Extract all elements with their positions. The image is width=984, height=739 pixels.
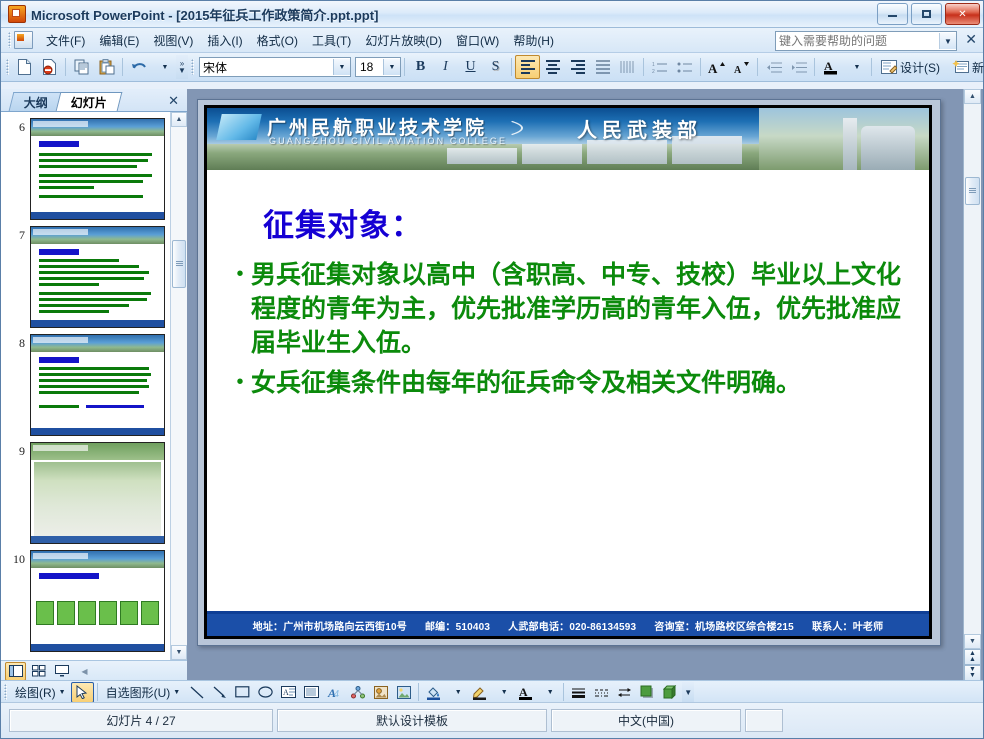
menu-item-help[interactable]: 帮助(H) [506, 29, 561, 52]
normal-view-button[interactable] [5, 662, 26, 681]
toolbar-separator [511, 58, 512, 76]
line-icon [190, 686, 204, 699]
decrease-font-size-button[interactable]: A [729, 55, 754, 79]
toolbar-separator [65, 58, 66, 76]
slide-title[interactable]: 征集对象： [263, 200, 423, 245]
italic-icon: I [443, 59, 448, 75]
slide-thumbnail[interactable] [30, 442, 165, 544]
text-direction-button[interactable] [615, 55, 640, 79]
slide-show-button[interactable] [51, 662, 72, 681]
draw-menu-button[interactable]: 绘图(R)▼ [10, 681, 71, 704]
thumb-title [39, 573, 99, 579]
thumb-banner [31, 443, 164, 460]
drawing-toolbar-grip[interactable] [4, 684, 7, 700]
footer-office: 咨询室：机场路校区综合楼215 [654, 618, 794, 633]
shadow-button[interactable]: S [483, 55, 508, 79]
menu-item-file[interactable]: 文件(F) [39, 29, 92, 52]
font-color-button[interactable]: A [818, 55, 843, 79]
new-slide-icon [952, 60, 969, 74]
slide-indicator: 幻灯片 4 / 27 [9, 709, 273, 732]
toolbar-separator [404, 58, 405, 76]
list-item[interactable]: 10 [1, 544, 171, 652]
list-item[interactable]: 8 [1, 328, 171, 436]
bullet-text: 女兵征集条件由每年的征兵命令及相关文件明确。 [251, 366, 801, 400]
font-color-button-draw[interactable]: A [514, 682, 537, 703]
tab-slides[interactable]: 幻灯片 [56, 92, 123, 111]
thumbnail-number: 9 [5, 442, 30, 459]
shadow-style-button[interactable] [636, 682, 659, 703]
bullet-marker: • [229, 258, 251, 290]
thumbnail-number: 8 [5, 334, 30, 351]
svg-text:A: A [283, 688, 289, 697]
tab-slides-label: 幻灯片 [71, 94, 107, 111]
help-search-box[interactable]: ▼ [775, 31, 957, 51]
bold-button[interactable]: B [408, 55, 433, 79]
menu-item-view[interactable]: 视图(V) [146, 29, 200, 52]
insert-picture-button[interactable] [392, 682, 415, 703]
autoshapes-label: 自选图形(U) [106, 684, 171, 701]
normal-view-icon [9, 665, 23, 677]
slide-thumbnail[interactable] [30, 226, 165, 328]
bold-icon: B [416, 59, 425, 75]
spell-check-indicator [745, 709, 783, 732]
slide-header-banner: 广州民航职业技术学院 GUANGZHOU CIVIL AVIATION COLL… [207, 108, 929, 170]
fill-color-dropdown[interactable]: ▼ [445, 682, 468, 703]
menu-item-format[interactable]: 格式(O) [250, 29, 305, 52]
title-bar: Microsoft PowerPoint - [2015年征兵工作政策简介.pp… [1, 1, 983, 28]
line-style-button[interactable] [567, 682, 590, 703]
slide-show-icon [55, 665, 69, 677]
increase-font-size-button[interactable]: A [704, 55, 729, 79]
slide-frame: 广州民航职业技术学院 GUANGZHOU CIVIL AVIATION COLL… [197, 99, 941, 646]
select-objects-button[interactable] [71, 682, 94, 703]
font-color-icon: A [518, 685, 533, 700]
tab-outline-label: 大纲 [24, 94, 48, 111]
document-icon [14, 31, 33, 49]
arrow-icon [213, 686, 227, 699]
close-document-button[interactable]: ✕ [965, 32, 977, 46]
menu-grip[interactable] [8, 32, 11, 48]
copy-button[interactable] [69, 55, 94, 79]
font-name-value: 宋体 [200, 59, 333, 76]
align-justify-button[interactable] [590, 55, 615, 79]
line-button[interactable] [185, 682, 208, 703]
footer-postcode: 邮编：510403 [425, 618, 490, 633]
new-slide-button[interactable]: 新幻灯片(N) [946, 56, 984, 79]
slide-thumbnail[interactable] [30, 334, 165, 436]
svg-text:A: A [708, 61, 718, 75]
diagram-button[interactable] [346, 682, 369, 703]
shadow-style-icon [640, 685, 655, 699]
thumb-title [39, 357, 79, 363]
chevron-down-icon[interactable]: ▼ [939, 33, 956, 49]
scroll-down-icon[interactable]: ▼ [964, 634, 981, 649]
help-search-input[interactable] [776, 32, 931, 50]
diagram-icon [351, 686, 365, 699]
thumb-title [39, 141, 79, 147]
chevron-down-icon[interactable]: ▼ [333, 59, 350, 75]
new-button[interactable] [12, 55, 37, 79]
menu-item-window[interactable]: 窗口(W) [449, 29, 506, 52]
bullet-text: 男兵征集对象以高中（含职高、中专、技校）毕业以上文化程度的青年为主，优先批准学历… [251, 258, 905, 360]
fill-color-button[interactable] [422, 682, 445, 703]
dash-style-button[interactable] [590, 682, 613, 703]
list-item[interactable]: 9 [1, 436, 171, 544]
footer-phone: 人武部电话：020-86134593 [508, 618, 636, 633]
arrow-style-icon [617, 686, 632, 699]
rectangle-button[interactable] [231, 682, 254, 703]
thumbnail-scrollbar[interactable]: ▲ ▼ [170, 112, 187, 660]
slide-thumbnail-list: 6 [1, 111, 187, 660]
footer-contact: 联系人：叶老师 [812, 618, 883, 633]
thumb-banner [31, 335, 164, 352]
slide-body-placeholder[interactable]: • 男兵征集对象以高中（含职高、中专、技校）毕业以上文化程度的青年为主，优先批准… [229, 258, 905, 406]
text-box-icon: A [281, 686, 296, 698]
font-size-value: 18 [356, 60, 383, 74]
design-label: 设计(S) [900, 59, 940, 76]
pane-tabs: 大纲 幻灯片 ✕ [1, 89, 187, 111]
slides-pane: 大纲 幻灯片 ✕ 6 [1, 89, 189, 681]
svg-text:4: 4 [334, 689, 339, 699]
toolbar-separator [97, 683, 98, 701]
oval-button[interactable] [254, 682, 277, 703]
slide-sorter-icon [32, 665, 46, 677]
thumbnail-number: 7 [5, 226, 30, 243]
align-center-icon [546, 60, 560, 74]
toolbar-separator [563, 683, 564, 701]
design-template-indicator: 默认设计模板 [277, 709, 547, 732]
department-name: 人民武装部 [577, 114, 702, 143]
toolbar-separator [418, 683, 419, 701]
thumb-footer [31, 320, 164, 327]
slide-footer: 地址：广州市机场路向云西街10号 邮编：510403 人武部电话：020-861… [207, 614, 929, 636]
align-justify-icon [596, 60, 610, 74]
insert-picture-icon [397, 686, 411, 699]
font-color-dropdown[interactable]: ▼ [843, 55, 868, 79]
scroll-left-icon[interactable]: ◀ [74, 662, 95, 681]
slide-scrollbar[interactable]: ▲ ▼ ▲▲ ▼▼ [963, 89, 981, 681]
workspace: 大纲 幻灯片 ✕ 6 [1, 89, 983, 681]
toolbar-separator [871, 58, 872, 76]
underline-button[interactable]: U [458, 55, 483, 79]
font-color-dropdown-draw[interactable]: ▼ [537, 682, 560, 703]
numbered-list-button[interactable]: 12 [647, 55, 672, 79]
banner-gate-photo [759, 108, 929, 170]
dash-style-icon [594, 686, 609, 699]
toolbar-separator [643, 58, 644, 76]
svg-text:A: A [824, 59, 833, 73]
line-style-icon [571, 686, 586, 699]
previous-slide-button[interactable]: ▲▲ [964, 649, 981, 665]
thumb-title [39, 249, 79, 255]
thumb-footer [31, 212, 164, 219]
thumbnail-number: 6 [5, 118, 30, 135]
maximize-button[interactable] [911, 3, 942, 25]
word-art-icon: A4 [327, 686, 342, 699]
college-logo-icon [216, 114, 262, 140]
promote-button[interactable] [761, 55, 786, 79]
word-art-button[interactable]: A4 [323, 682, 346, 703]
italic-button[interactable]: I [433, 55, 458, 79]
thumbnail-number: 10 [5, 550, 30, 567]
3d-style-button[interactable] [659, 682, 682, 703]
slide-thumbnail[interactable] [30, 550, 165, 652]
standard-toolbar: ▼ »▼ 宋体 ▼ 18 ▼ B I U S [1, 53, 983, 82]
undo-dropdown[interactable]: ▼ [151, 55, 176, 79]
menu-item-insert[interactable]: 插入(I) [200, 29, 249, 52]
thumb-footer [31, 536, 164, 543]
text-box-button[interactable]: A [277, 682, 300, 703]
footer-address: 地址：广州市机场路向云西街10号 [253, 618, 407, 633]
toolbar-separator [757, 58, 758, 76]
window-title: Microsoft PowerPoint - [2015年征兵工作政策简介.pp… [31, 5, 378, 24]
new-slide-label: 新幻灯片(N) [972, 59, 984, 76]
arrow-button[interactable] [208, 682, 231, 703]
scrollbar-grip [969, 188, 976, 194]
font-size-combo[interactable]: 18 ▼ [355, 57, 401, 77]
autoshapes-menu-button[interactable]: 自选图形(U)▼ [101, 681, 186, 704]
clip-art-button[interactable] [369, 682, 392, 703]
align-left-button[interactable] [515, 55, 540, 79]
clip-art-icon [374, 686, 388, 699]
arrow-style-button[interactable] [613, 682, 636, 703]
list-item[interactable]: 6 [1, 112, 171, 220]
toolbar-separator [700, 58, 701, 76]
font-name-combo[interactable]: 宋体 ▼ [199, 57, 351, 77]
oval-icon [258, 686, 273, 698]
formatting-toolbar-grip[interactable] [191, 59, 194, 75]
align-right-icon [571, 60, 585, 74]
scrollbar-grip [176, 261, 183, 267]
align-right-button[interactable] [565, 55, 590, 79]
slide-editing-area: 广州民航职业技术学院 GUANGZHOU CIVIL AVIATION COLL… [189, 89, 983, 681]
rectangle-icon [235, 686, 250, 698]
close-button[interactable]: ✕ [945, 3, 980, 25]
open-button[interactable] [37, 55, 62, 79]
toolbar-separator [814, 58, 815, 76]
scroll-down-icon[interactable]: ▼ [171, 645, 187, 660]
drawing-overflow-button[interactable]: ▼ [682, 682, 694, 702]
paste-button[interactable] [94, 55, 119, 79]
line-color-icon [472, 685, 487, 700]
align-left-icon [521, 60, 535, 74]
maximize-icon [922, 10, 931, 18]
svg-text:2: 2 [652, 69, 655, 74]
view-buttons: ◀ [1, 660, 187, 681]
minimize-icon [888, 12, 897, 17]
vertical-text-box-button[interactable] [300, 682, 323, 703]
draw-label: 绘图(R) [15, 684, 56, 701]
bullet-marker: • [229, 366, 251, 398]
minimize-button[interactable] [877, 3, 908, 25]
list-item[interactable]: 7 [1, 220, 171, 328]
menu-bar: 文件(F) 编辑(E) 视图(V) 插入(I) 格式(O) 工具(T) 幻灯片放… [1, 28, 983, 53]
list-item[interactable]: • 女兵征集条件由每年的征兵命令及相关文件明确。 [229, 366, 905, 400]
menu-item-tools[interactable]: 工具(T) [305, 29, 358, 52]
scrollbar-thumb[interactable] [965, 177, 980, 205]
powerpoint-icon [8, 5, 26, 23]
underline-icon: U [465, 59, 475, 75]
chevron-down-icon[interactable]: ▼ [383, 59, 400, 75]
status-bar: 幻灯片 4 / 27 默认设计模板 中文(中国) [1, 702, 983, 738]
3d-style-icon [663, 685, 678, 699]
close-pane-button[interactable]: ✕ [168, 93, 179, 109]
thumb-banner [31, 227, 164, 244]
thumb-banner [31, 119, 164, 136]
toolbar-grip[interactable] [6, 59, 9, 75]
thumb-footer [31, 644, 164, 651]
design-icon [881, 60, 897, 74]
text-shadow-icon: S [492, 59, 500, 75]
thumb-web-screenshot [34, 462, 161, 536]
toolbar-separator [122, 58, 123, 76]
slide-thumbnail[interactable] [30, 118, 165, 220]
svg-text:A: A [734, 65, 742, 75]
thumb-banner [31, 551, 164, 568]
scroll-up-icon[interactable]: ▲ [964, 89, 981, 104]
slide-sorter-button[interactable] [28, 662, 49, 681]
line-color-dropdown[interactable]: ▼ [491, 682, 514, 703]
current-slide[interactable]: 广州民航职业技术学院 GUANGZHOU CIVIL AVIATION COLL… [204, 105, 932, 639]
svg-text:A: A [519, 685, 528, 699]
vertical-text-box-icon [304, 686, 319, 698]
powerpoint-window: Microsoft PowerPoint - [2015年征兵工作政策简介.pp… [0, 0, 984, 739]
undo-button[interactable] [126, 55, 151, 79]
scrollbar-thumb[interactable] [172, 240, 186, 288]
scroll-up-icon[interactable]: ▲ [171, 112, 187, 127]
window-controls: ✕ [877, 3, 980, 25]
menu-item-slideshow[interactable]: 幻灯片放映(D) [358, 29, 449, 52]
thumbnail-scroll-content: 6 [1, 112, 171, 660]
align-center-button[interactable] [540, 55, 565, 79]
drawing-toolbar: 绘图(R)▼ 自选图形(U)▼ A A4 [1, 680, 983, 703]
close-icon: ✕ [958, 9, 966, 20]
thumb-footer [31, 428, 164, 435]
next-slide-button[interactable]: ▼▼ [964, 665, 981, 681]
college-name-en: GUANGZHOU CIVIL AVIATION COLLEGE [269, 136, 507, 146]
bulleted-list-button[interactable] [672, 55, 697, 79]
design-button[interactable]: 设计(S) [875, 56, 946, 79]
demote-button[interactable] [786, 55, 811, 79]
line-color-button[interactable] [468, 682, 491, 703]
toolbar-overflow-button[interactable]: »▼ [176, 55, 188, 79]
fill-color-icon [426, 685, 441, 700]
language-indicator: 中文(中国) [551, 709, 741, 732]
list-item[interactable]: • 男兵征集对象以高中（含职高、中专、技校）毕业以上文化程度的青年为主，优先批准… [229, 258, 905, 360]
svg-text:1: 1 [652, 62, 655, 68]
select-arrow-icon [76, 685, 88, 699]
menu-item-edit[interactable]: 编辑(E) [92, 29, 146, 52]
